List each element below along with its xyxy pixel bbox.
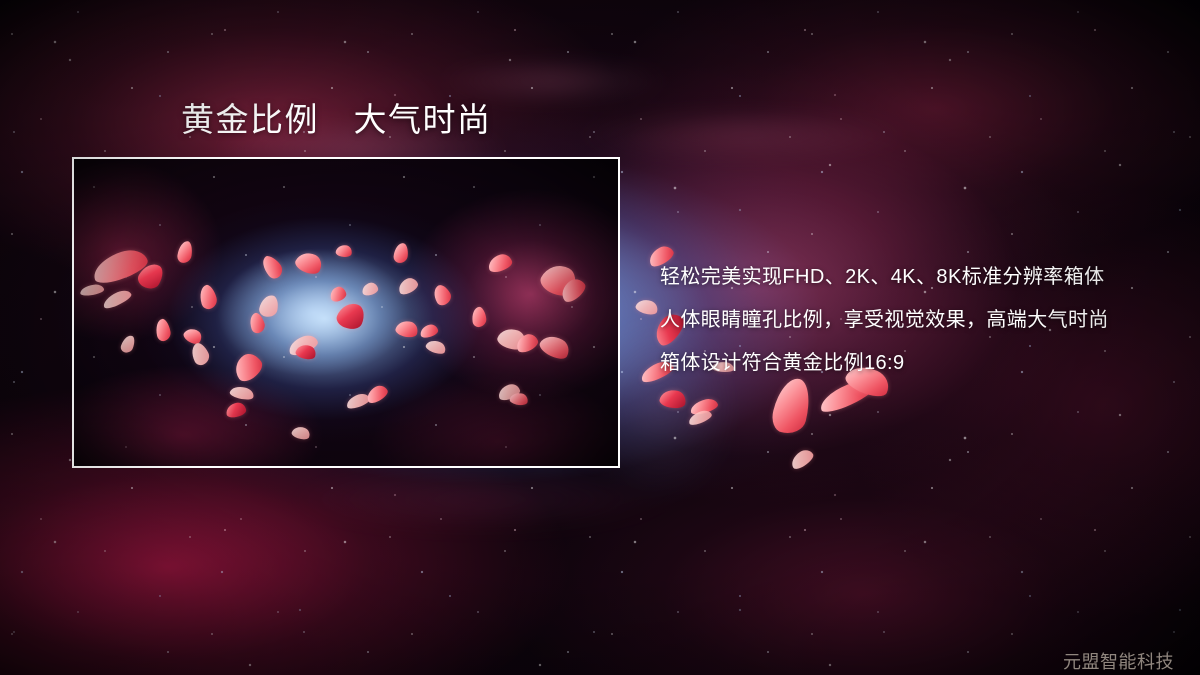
body-text-line: 轻松完美实现FHD、2K、4K、8K标准分辨率箱体: [660, 256, 1109, 299]
slide-title: 黄金比例 大气时尚: [181, 100, 492, 140]
watermark-logo-text: 元盟智能科技: [1063, 648, 1174, 674]
framed-image: [72, 157, 620, 468]
body-text-line: 箱体设计符合黄金比例16:9: [660, 342, 1109, 385]
presentation-slide: 黄金比例 大气时尚: [0, 0, 1200, 675]
body-text-line: 人体眼睛瞳孔比例，享受视觉效果，高端大气时尚: [660, 299, 1109, 342]
framed-image-vignette: [74, 159, 618, 466]
body-text-block: 轻松完美实现FHD、2K、4K、8K标准分辨率箱体 人体眼睛瞳孔比例，享受视觉效…: [660, 256, 1109, 385]
